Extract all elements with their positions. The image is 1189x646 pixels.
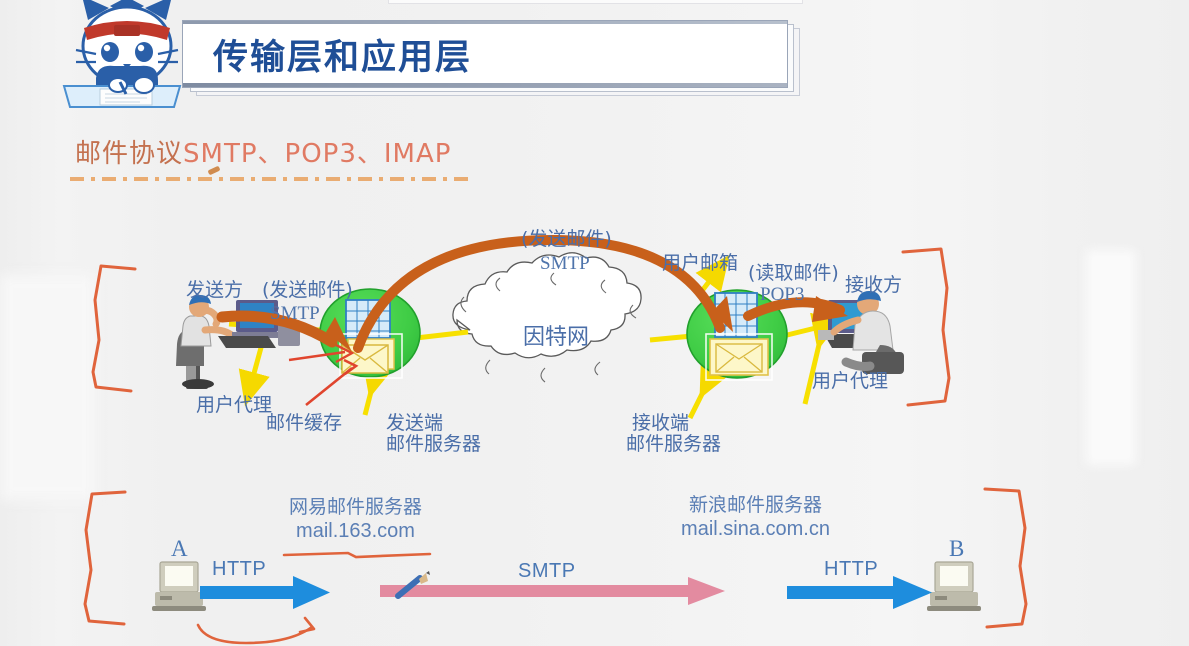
right-mail-server-cn: 新浪邮件服务器 xyxy=(648,494,863,517)
label-receiver: 接收方 xyxy=(845,275,902,297)
right-mail-server-domain: mail.sina.com.cn xyxy=(648,517,863,541)
label-sender-protocol: SMTP xyxy=(270,303,320,325)
label-node-b: B xyxy=(949,536,964,562)
left-mail-server-cn: 网易邮件服务器 xyxy=(253,496,458,519)
label-user-mailbox: 用户邮箱 xyxy=(662,253,738,275)
label-receiver-user-agent: 用户代理 xyxy=(812,371,888,393)
annotation-bracket-top-right xyxy=(903,249,949,405)
label-http-right: HTTP xyxy=(824,558,878,581)
label-transfer-protocol: SMTP xyxy=(540,253,590,275)
internet-cloud-label: 因特网 xyxy=(523,325,589,350)
computer-a-icon xyxy=(152,562,206,611)
annotation-bracket-top-left xyxy=(93,266,135,391)
label-send-server-line2: 邮件服务器 xyxy=(386,434,481,456)
label-node-a: A xyxy=(171,536,188,562)
label-send-server-line1: 发送端 xyxy=(386,413,443,435)
slide-canvas: 传输层和应用层 xyxy=(0,0,1189,646)
label-sender: 发送方 xyxy=(186,280,243,302)
annotation-bracket-bottom-right xyxy=(985,489,1026,627)
label-sender-send-mail: (发送邮件) xyxy=(262,280,353,302)
left-mail-server-domain: mail.163.com xyxy=(253,519,458,543)
label-transfer-send-mail: (发送邮件) xyxy=(521,229,612,251)
label-sender-user-agent: 用户代理 xyxy=(196,395,272,417)
left-mail-server-label: 网易邮件服务器 mail.163.com xyxy=(253,496,458,544)
annotation-underline-163 xyxy=(284,553,430,557)
label-smtp-bottom: SMTP xyxy=(518,560,576,583)
label-http-left: HTTP xyxy=(212,558,266,581)
computer-b-icon xyxy=(927,562,981,611)
label-mail-cache: 邮件缓存 xyxy=(266,413,342,435)
label-recv-server-line2: 邮件服务器 xyxy=(626,434,721,456)
label-recv-server-line1: 接收端 xyxy=(632,413,689,435)
label-read-protocol: POP3 xyxy=(760,284,804,306)
annotation-curve-bottom xyxy=(198,618,314,643)
label-read-mail: (读取邮件) xyxy=(748,263,839,285)
right-mail-server-label: 新浪邮件服务器 mail.sina.com.cn xyxy=(648,494,863,542)
annotation-bracket-bottom-left xyxy=(85,492,125,624)
